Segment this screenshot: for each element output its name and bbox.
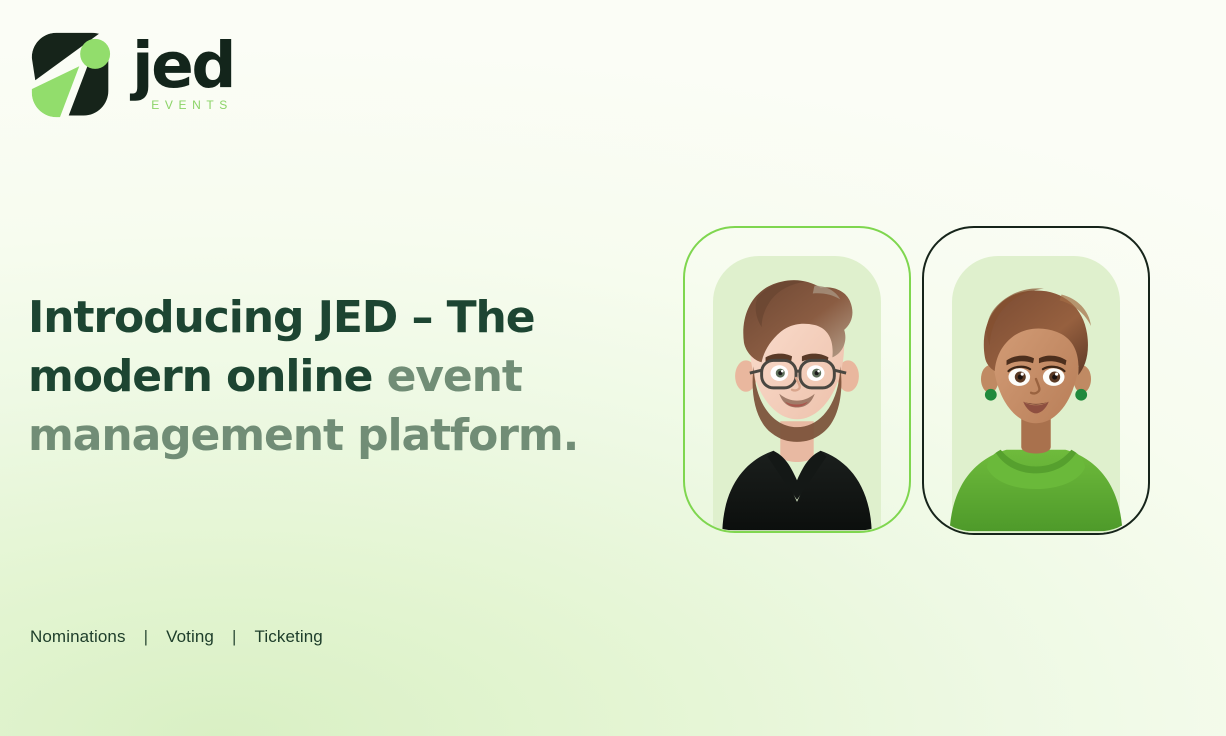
brand-name: jed — [132, 40, 234, 92]
avatar-female-illustration — [924, 228, 1148, 533]
brand-tagline: EVENTS — [151, 98, 233, 112]
headline-line-2-muted: event — [387, 351, 522, 402]
avatar-card-female[interactable] — [922, 226, 1150, 535]
headline-line-1: Introducing JED – The — [28, 292, 534, 343]
link-separator-1: | — [128, 627, 165, 647]
brand-wordmark: jed EVENTS — [132, 40, 234, 112]
headline-line-2-strong: modern online — [28, 351, 387, 402]
link-nominations[interactable]: Nominations — [28, 627, 128, 647]
page-headline: Introducing JED – The modern online even… — [28, 288, 588, 465]
jed-logo-mark-icon — [30, 31, 118, 119]
avatar-card-group — [683, 226, 1150, 535]
avatar-male-illustration — [685, 228, 909, 531]
link-separator-2: | — [216, 627, 253, 647]
feature-links: Nominations | Voting | Ticketing — [28, 627, 325, 647]
headline-line-3-muted: management platform. — [28, 410, 578, 461]
link-voting[interactable]: Voting — [164, 627, 216, 647]
avatar-card-male[interactable] — [683, 226, 911, 533]
link-ticketing[interactable]: Ticketing — [253, 627, 325, 647]
brand-logo[interactable]: jed EVENTS — [30, 31, 234, 119]
